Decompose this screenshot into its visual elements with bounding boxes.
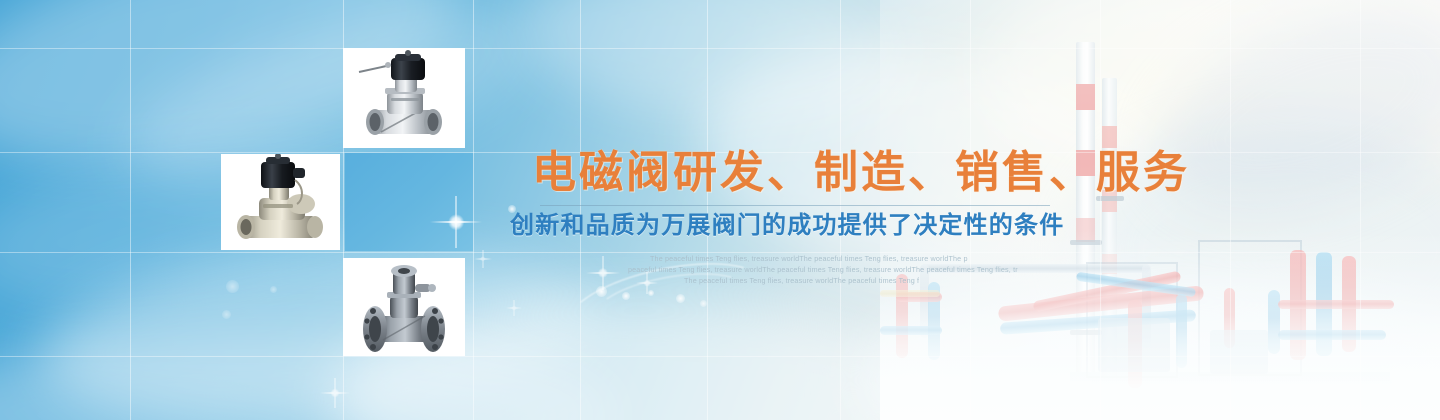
hero-banner: 电磁阀研发、制造、销售、服务 创新和品质为万展阀门的成功提供了决定性的条件 Th… — [0, 0, 1440, 420]
exchanger-shell — [1290, 250, 1306, 360]
sparkle-star — [320, 378, 350, 408]
pipe-run — [1000, 309, 1196, 335]
brass-solenoid-valve-image — [221, 154, 340, 250]
sparkle-star — [506, 300, 522, 316]
exchanger-shell — [1342, 256, 1356, 352]
fineprint-line: The peaceful times Teng flies, treasure … — [650, 253, 1202, 264]
stainless-steel-solenoid-valve-image — [343, 48, 465, 148]
product-tile-stainless-steel-solenoid-valve[interactable] — [343, 48, 465, 148]
bokeh-dot — [596, 286, 607, 297]
cloud-wisp — [860, 280, 1440, 420]
page-subtitle: 创新和品质为万展阀门的成功提供了决定性的条件 — [510, 212, 1152, 240]
fineprint-line: The peaceful times Teng flies, treasure … — [684, 275, 1202, 286]
pipe-run — [928, 282, 940, 360]
accent-panel — [345, 153, 473, 251]
pipe-run — [896, 292, 942, 302]
page-title: 电磁阀研发、制造、销售、服务 — [532, 150, 1152, 196]
cloud-wisp — [34, 226, 607, 420]
bokeh-dot — [222, 310, 231, 319]
bokeh-dot — [270, 286, 277, 293]
bokeh-dot — [622, 292, 630, 300]
product-tile-brass-solenoid-valve[interactable] — [221, 154, 340, 250]
pipe-run — [896, 274, 908, 358]
pipe-run — [880, 290, 940, 297]
pipe-riser — [1224, 288, 1235, 348]
cloud-wisp — [0, 330, 620, 420]
structure-frame — [1198, 240, 1302, 376]
pipe-run — [880, 326, 942, 335]
bokeh-dot — [676, 294, 685, 303]
pipe-riser — [1128, 300, 1142, 388]
title-divider — [540, 205, 1050, 206]
flanged-solenoid-valve-image — [343, 258, 465, 356]
fineprint-block: The peaceful times Teng flies, treasure … — [642, 253, 1202, 286]
sparkle-star — [474, 250, 492, 268]
process-vessel — [1098, 318, 1170, 372]
pipe-run — [998, 285, 1204, 321]
bokeh-dot — [226, 280, 239, 293]
platform-deck — [1070, 372, 1390, 381]
pipe-run — [1278, 300, 1394, 309]
product-tile-flanged-solenoid-valve[interactable] — [343, 258, 465, 356]
cloud-wisp — [1129, 0, 1440, 251]
platform-deck — [1092, 380, 1392, 386]
cloud-wisp — [513, 0, 907, 139]
pipe-run — [1278, 330, 1386, 340]
pipe-riser — [1268, 290, 1280, 354]
bokeh-dot — [700, 300, 707, 307]
fineprint-line: peaceful times Teng flies, treasure worl… — [628, 264, 1202, 275]
pipe-riser — [1176, 294, 1187, 368]
exchanger-shell — [1316, 252, 1332, 356]
bokeh-dot — [648, 290, 654, 296]
process-vessel — [1210, 330, 1268, 374]
stack-platform — [1070, 330, 1102, 335]
banner-copy: 电磁阀研发、制造、销售、服务 创新和品质为万展阀门的成功提供了决定性的条件 Th… — [532, 150, 1152, 286]
